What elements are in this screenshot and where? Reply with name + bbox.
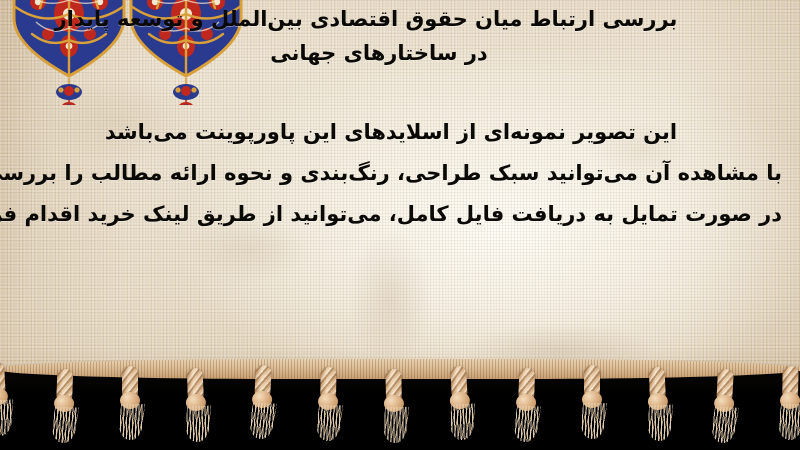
tassel-strands <box>50 407 80 444</box>
fringe-tassel <box>381 369 408 443</box>
fringe-tassel <box>446 365 476 440</box>
slide-body-line-1: این تصویر نمونه‌ای از اسلایدهای این پاور… <box>0 112 782 153</box>
tassel-strands <box>776 404 800 440</box>
slide-title-line-2: در ساختارهای جهانی <box>0 36 780 70</box>
fringe-tassel <box>183 368 212 443</box>
fringe-tassel <box>710 368 740 443</box>
tassel-strands <box>117 404 145 440</box>
fringe-tassel <box>777 366 800 440</box>
tassel-strands <box>512 406 542 443</box>
slide-body-line-2: با مشاهده آن می‌توانید سبک طراحی، رنگ‌بن… <box>0 153 782 194</box>
tassel-strands <box>449 403 475 440</box>
carpet-fringe <box>0 355 800 450</box>
presentation-slide: بررسی ارتباط میان حقوق اقتصادی بین‌الملل… <box>0 0 800 450</box>
slide-title-line-1: بررسی ارتباط میان حقوق اقتصادی بین‌الملل… <box>0 2 780 36</box>
slide-body-line-3: در صورت تمایل به دریافت فایل کامل، می‌تو… <box>0 194 782 235</box>
fringe-tassel <box>645 367 674 442</box>
tassel-strands <box>0 399 13 436</box>
slide-body: این تصویر نمونه‌ای از اسلایدهای این پاور… <box>0 112 782 235</box>
tassel-strands <box>646 405 673 442</box>
slide-title: بررسی ارتباط میان حقوق اقتصادی بین‌الملل… <box>0 2 780 70</box>
tassel-strands <box>314 405 343 441</box>
fringe-tassel <box>248 364 278 439</box>
tassel-strands <box>709 406 739 443</box>
fringe-tassel <box>118 366 144 440</box>
fringe-tassel <box>513 368 542 443</box>
fringe-tassel <box>315 367 342 441</box>
tassel-strands <box>184 406 211 443</box>
fringe-tassel <box>580 365 606 439</box>
tassel-strands <box>579 403 607 439</box>
fringe-tassel <box>51 369 80 444</box>
tassel-strands <box>381 407 409 443</box>
tassel-strands <box>247 402 277 439</box>
